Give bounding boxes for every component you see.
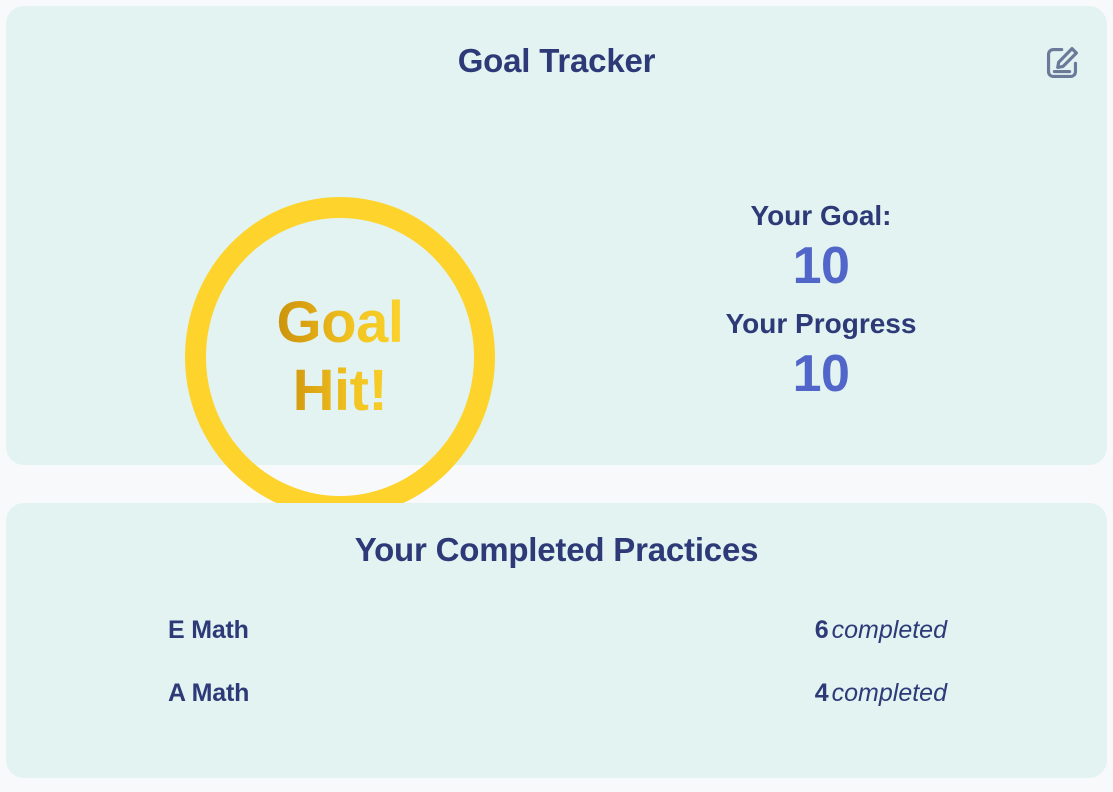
practice-count: 4completed <box>815 679 947 708</box>
goal-stats: Your Goal: 10 Your Progress 10 <box>646 199 996 407</box>
goal-progress-ring: Goal Hit! <box>185 197 495 517</box>
goal-status-label: Goal Hit! <box>271 289 410 426</box>
page-title: Goal Tracker <box>6 6 1107 77</box>
your-goal-label: Your Goal: <box>646 199 996 233</box>
completed-practices-list: E Math 6completed A Math 4completed <box>6 616 1107 742</box>
completed-practices-title: Your Completed Practices <box>6 503 1107 566</box>
practice-subject: E Math <box>168 616 249 645</box>
practice-count-word: completed <box>832 616 947 644</box>
stat-your-progress: Your Progress 10 <box>646 307 996 407</box>
goal-tracker-page: Goal Tracker Goal Hit! Your <box>0 0 1113 792</box>
goal-status-line-2: Hit! <box>277 357 404 425</box>
goal-tracker-card: Goal Tracker Goal Hit! Your <box>6 6 1107 465</box>
practice-row: A Math 4completed <box>168 679 947 742</box>
practice-count-number: 4 <box>815 679 829 707</box>
your-progress-value: 10 <box>646 341 996 408</box>
goal-status-line-1: Goal <box>277 289 404 357</box>
your-goal-value: 10 <box>646 233 996 300</box>
practice-count-number: 6 <box>815 616 829 644</box>
practice-subject: A Math <box>168 679 249 708</box>
practice-count: 6completed <box>815 616 947 645</box>
practice-count-word: completed <box>832 679 947 707</box>
completed-practices-card: Your Completed Practices E Math 6complet… <box>6 503 1107 778</box>
your-progress-label: Your Progress <box>646 307 996 341</box>
stat-your-goal: Your Goal: 10 <box>646 199 996 299</box>
practice-row: E Math 6completed <box>168 616 947 679</box>
tracker-body: Goal Hit! Your Goal: 10 Your Progress 10 <box>6 77 1107 536</box>
